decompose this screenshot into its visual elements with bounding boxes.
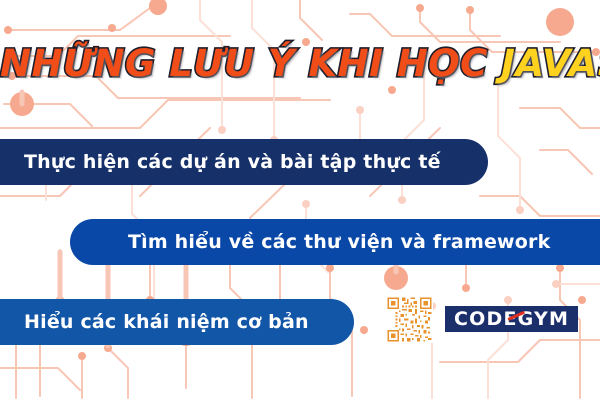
page-title: NHỮNG LƯU Ý KHI HỌC JAVASCRIPT [0,42,600,96]
bullet-bar-1: Thực hiện các dự án và bài tập thực tế [0,139,488,185]
bullet-label-1: Thực hiện các dự án và bài tập thực tế [24,151,441,173]
qr-code-icon [386,296,433,343]
infographic-banner: NHỮNG LƯU Ý KHI HỌC JAVASCRIPT Thực hiện… [0,0,600,400]
bullet-bar-3: Hiểu các khái niệm cơ bản [0,299,354,345]
bullet-label-3: Hiểu các khái niệm cơ bản [24,311,309,333]
codegym-logo: CODEGYM [445,306,578,332]
bullet-label-2: Tìm hiểu về các thư viện và framework [128,231,550,253]
title-accent-text: JAVASCRIPT [501,42,600,85]
bullet-bar-2: Tìm hiểu về các thư viện và framework [70,219,600,265]
brand-logo-block: CODEGYM [386,294,572,344]
title-main-text: NHỮNG LƯU Ý KHI HỌC [0,42,501,85]
